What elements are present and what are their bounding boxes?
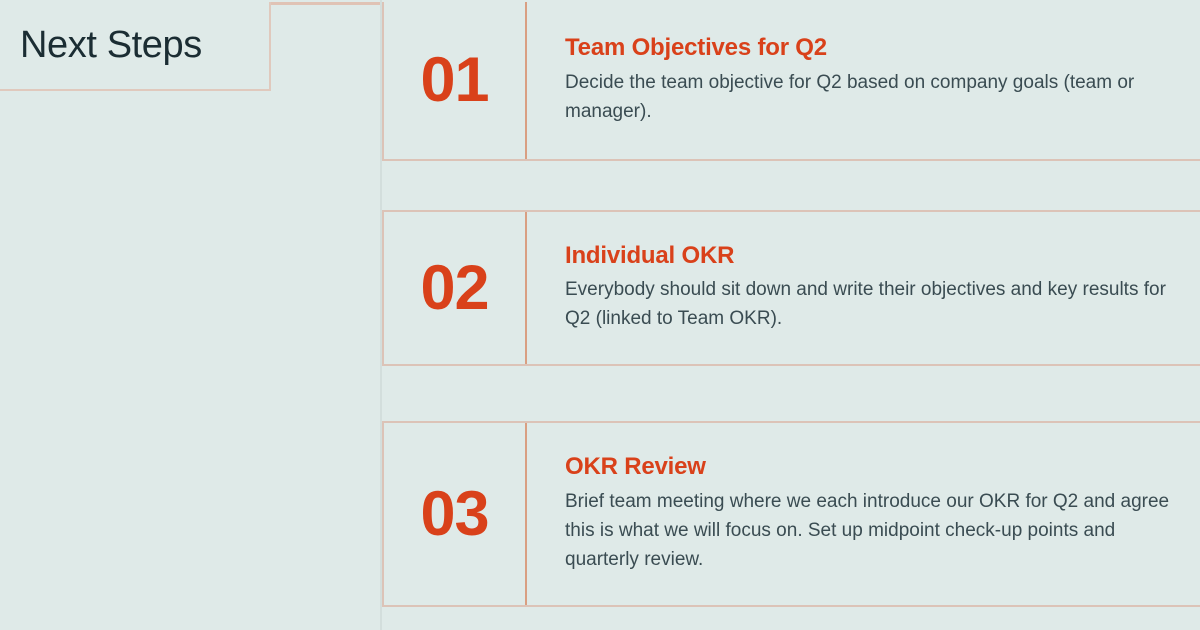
list-item[interactable]: 02 Individual OKR Everybody should sit d…: [382, 210, 1200, 366]
step-number: 01: [384, 2, 527, 159]
step-body: OKR Review Brief team meeting where we e…: [527, 423, 1200, 605]
step-body: Team Objectives for Q2 Decide the team o…: [527, 2, 1200, 159]
step-title: OKR Review: [565, 453, 1200, 481]
slide-canvas: Next Steps 01 Team Objectives for Q2 Dec…: [0, 0, 1200, 630]
list-item[interactable]: 03 OKR Review Brief team meeting where w…: [382, 421, 1200, 607]
section-heading-box: Next Steps: [0, 2, 271, 91]
page-title: Next Steps: [0, 25, 202, 67]
step-body: Individual OKR Everybody should sit down…: [527, 212, 1200, 364]
step-description: Decide the team objective for Q2 based o…: [565, 69, 1190, 127]
step-number: 02: [384, 212, 527, 364]
step-title: Team Objectives for Q2: [565, 34, 1200, 62]
step-title: Individual OKR: [565, 242, 1200, 270]
step-number: 03: [384, 423, 527, 605]
list-item[interactable]: 01 Team Objectives for Q2 Decide the tea…: [382, 2, 1200, 161]
step-description: Brief team meeting where we each introdu…: [565, 488, 1190, 575]
step-description: Everybody should sit down and write thei…: [565, 276, 1190, 334]
